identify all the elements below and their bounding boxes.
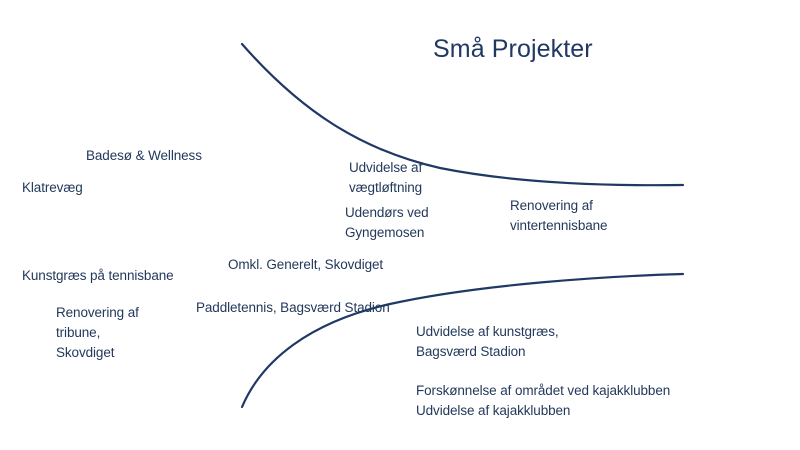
project-label-badeso-wellness: Badesø & Wellness bbox=[86, 146, 202, 166]
slide-canvas: Små Projekter Badesø & WellnessKlatrevæg… bbox=[0, 0, 800, 450]
project-label-omkl-generelt-skovdiget: Omkl. Generelt, Skovdiget bbox=[228, 255, 383, 275]
upper-curve-icon bbox=[242, 44, 683, 185]
project-label-renovering-vintertennisbane: Renovering af vintertennisbane bbox=[510, 196, 607, 236]
project-label-udvidelse-kunstgraes: Udvidelse af kunstgræs, Bagsværd Stadion bbox=[416, 322, 559, 362]
project-label-klatrevaeg: Klatrevæg bbox=[22, 178, 83, 198]
project-label-renovering-tribune: Renovering af tribune, Skovdiget bbox=[56, 303, 139, 363]
page-title: Små Projekter bbox=[433, 34, 593, 64]
project-label-paddletennis-bagsvaerd: Paddletennis, Bagsværd Stadion bbox=[196, 298, 390, 318]
project-label-forskoennelse-kajakklubben: Forskønnelse af området ved kajakklubben bbox=[416, 381, 670, 401]
project-label-udvidelse-kajakklubben: Udvidelse af kajakklubben bbox=[416, 401, 570, 421]
project-label-udvidelse-vaegtloeftning: Udvidelse af vægtløftning bbox=[349, 158, 422, 198]
project-label-udendoers-gyngemosen: Udendørs ved Gyngemosen bbox=[345, 203, 429, 243]
project-label-kunstgraes-tennisbane: Kunstgræs på tennisbane bbox=[22, 266, 174, 286]
